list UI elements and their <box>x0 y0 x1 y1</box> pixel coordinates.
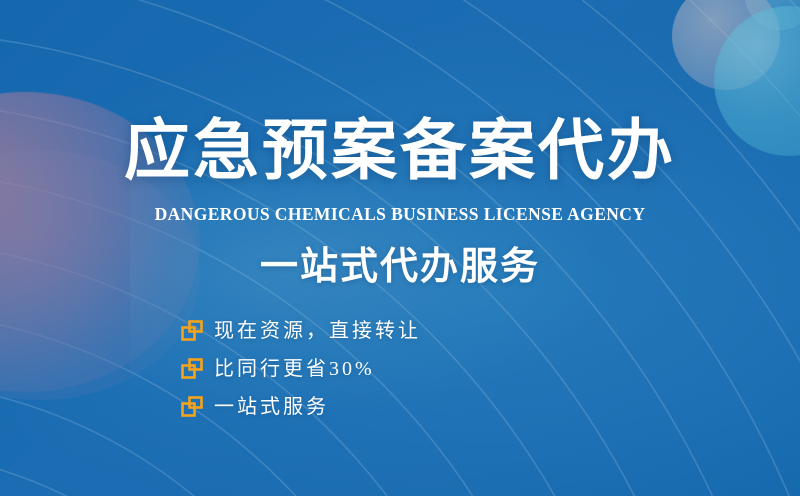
list-item: 一站式服务 <box>180 394 421 420</box>
list-item: 比同行更省30% <box>180 356 421 382</box>
list-item-label: 一站式服务 <box>214 395 329 419</box>
banner-content: 应急预案备案代办 DANGEROUS CHEMICALS BUSINESS LI… <box>0 0 800 496</box>
banner-subtitle-chinese: 一站式代办服务 <box>0 247 800 285</box>
list-item: 现在资源，直接转让 <box>180 318 421 344</box>
banner-subtitle-english: DANGEROUS CHEMICALS BUSINESS LICENSE AGE… <box>0 206 800 224</box>
feature-list: 现在资源，直接转让 比同行更省30% 一站式 <box>180 318 421 420</box>
list-item-label: 比同行更省30% <box>214 357 375 381</box>
promo-banner: 应急预案备案代办 DANGEROUS CHEMICALS BUSINESS LI… <box>0 0 800 496</box>
banner-title: 应急预案备案代办 <box>0 118 800 184</box>
overlapping-squares-icon <box>180 319 204 343</box>
list-item-label: 现在资源，直接转让 <box>214 319 421 343</box>
overlapping-squares-icon <box>180 357 204 381</box>
overlapping-squares-icon <box>180 395 204 419</box>
